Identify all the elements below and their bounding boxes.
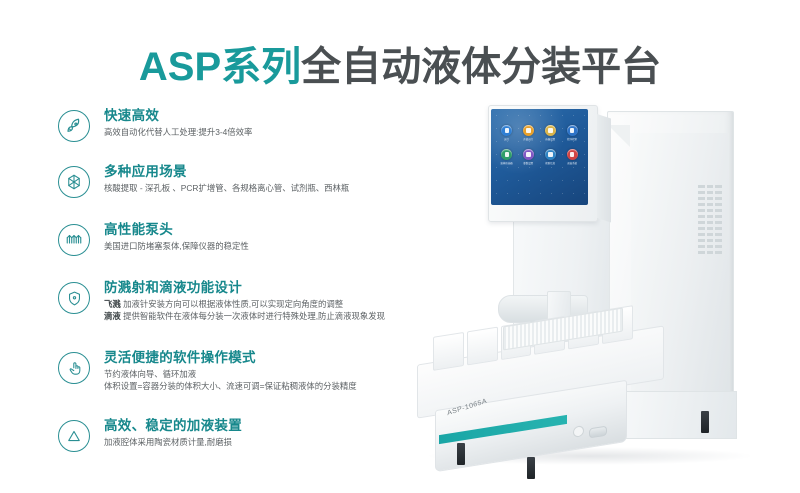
feature-list: 快速高效 高效自动化代替人工处理:提升3-4倍效率 多种应用场景 核酸提取 - … <box>58 108 428 468</box>
run-app-icon <box>501 125 512 136</box>
feature-heading: 高效、稳定的加液装置 <box>104 418 428 434</box>
touchscreen-display[interactable]: 运行 开始运行 容器设置 程序检索 液体和容器 <box>491 109 588 205</box>
feature-desc: 节约液体向导、循环加液 <box>104 368 428 380</box>
screen-app-grid: 运行 开始运行 容器设置 程序检索 液体和容器 <box>496 125 583 165</box>
screen-app-container[interactable]: 容器设置 <box>540 125 562 141</box>
feature-desc-label: 滴液 <box>104 311 121 321</box>
touch-hand-icon <box>58 352 90 384</box>
screen-app-label: 运行 <box>504 138 509 141</box>
screen-app-run[interactable]: 运行 <box>496 125 518 141</box>
rocket-icon <box>58 110 90 142</box>
page-title-accent: ASP系列 <box>139 45 301 89</box>
screen-app-label: 程序检索 <box>567 138 577 141</box>
power-app-icon <box>567 149 578 160</box>
settings-app-icon <box>523 149 534 160</box>
machine-leg <box>457 443 465 465</box>
shield-icon <box>58 282 90 314</box>
screen-app-info[interactable]: 帮助信息 <box>540 149 562 165</box>
liquid-app-icon <box>501 149 512 160</box>
program-app-icon <box>523 125 534 136</box>
screen-app-power[interactable]: 退出系统 <box>561 149 583 165</box>
screen-app-program[interactable]: 开始运行 <box>518 125 540 141</box>
product-image: 运行 开始运行 容器设置 程序检索 液体和容器 <box>395 95 800 493</box>
feature-desc: 滴液 提供智能软件在液体每分装一次液体时进行特殊处理,防止滴液现象发现 <box>104 310 428 322</box>
feature-item-dispensing-device: 高效、稳定的加液装置 加液腔体采用陶瓷材质计量,耐磨损 <box>58 418 428 458</box>
page-title-rest: 全自动液体分装平台 <box>301 45 661 89</box>
feature-desc: 高效自动化代替人工处理:提升3-4倍效率 <box>104 126 428 138</box>
feature-heading: 高性能泵头 <box>104 222 428 238</box>
screen-app-liquid[interactable]: 液体和容器 <box>496 149 518 165</box>
feature-heading: 防溅射和滴液功能设计 <box>104 280 428 296</box>
triangle-icon <box>58 420 90 452</box>
feature-item-anti-splash: 防溅射和滴液功能设计 飞溅 加液针安装方向可以根据液体性质,可以实现定向角度的调… <box>58 280 428 340</box>
waveform-icon <box>58 224 90 256</box>
feature-desc-text: 提供智能软件在液体每分装一次液体时进行特殊处理,防止滴液现象发现 <box>123 311 385 321</box>
machine-leg <box>527 457 535 479</box>
feature-item-software-mode: 灵活便捷的软件操作模式 节约液体向导、循环加液 体积设置=容器分装的体积大小、流… <box>58 350 428 408</box>
screen-app-label: 参数设置 <box>524 162 534 165</box>
screen-app-label: 开始运行 <box>524 138 534 141</box>
feature-item-pump-head: 高性能泵头 美国进口防堵塞泵体,保障仪器的稳定性 <box>58 222 428 270</box>
screen-app-label: 液体和容器 <box>501 162 513 165</box>
product-banner: ASP系列全自动液体分装平台 快速高效 高效自动化代替人工处理:提升3-4倍效率 <box>0 0 800 493</box>
feature-desc: 体积设置=容器分装的体积大小、流速可调=保证粘稠液体的分装精度 <box>104 380 428 392</box>
info-app-icon <box>545 149 556 160</box>
machine-side-base <box>623 391 737 439</box>
feature-heading: 快速高效 <box>104 108 428 124</box>
feature-heading: 灵活便捷的软件操作模式 <box>104 350 428 366</box>
screen-app-settings[interactable]: 参数设置 <box>518 149 540 165</box>
machine-leg <box>701 411 709 433</box>
feature-heading: 多种应用场景 <box>104 164 428 180</box>
page-title: ASP系列全自动液体分装平台 <box>0 34 800 92</box>
feature-desc: 飞溅 加液针安装方向可以根据液体性质,可以实现定向角度的调整 <box>104 298 428 310</box>
feature-desc: 加液腔体采用陶瓷材质计量,耐磨损 <box>104 436 428 448</box>
screen-app-search[interactable]: 程序检索 <box>561 125 583 141</box>
feature-item-fast-efficient: 快速高效 高效自动化代替人工处理:提升3-4倍效率 <box>58 108 428 154</box>
feature-desc-label: 飞溅 <box>104 299 121 309</box>
feature-item-applications: 多种应用场景 核酸提取 - 深孔板 、PCR扩增管、各规格离心管、试剂瓶、西林瓶 <box>58 164 428 212</box>
container-app-icon <box>545 125 556 136</box>
machine-tower-bevel <box>608 125 630 147</box>
feature-desc-text: 加液针安装方向可以根据液体性质,可以实现定向角度的调整 <box>123 299 343 309</box>
ventilation-grille-icon <box>698 185 722 255</box>
feature-desc: 美国进口防堵塞泵体,保障仪器的稳定性 <box>104 240 428 252</box>
screen-app-label: 帮助信息 <box>545 162 555 165</box>
search-app-icon <box>567 125 578 136</box>
feature-desc: 核酸提取 - 深孔板 、PCR扩增管、各规格离心管、试剂瓶、西林瓶 <box>104 182 428 194</box>
screen-app-label: 容器设置 <box>545 138 555 141</box>
cube-icon <box>58 166 90 198</box>
screen-app-label: 退出系统 <box>567 162 577 165</box>
